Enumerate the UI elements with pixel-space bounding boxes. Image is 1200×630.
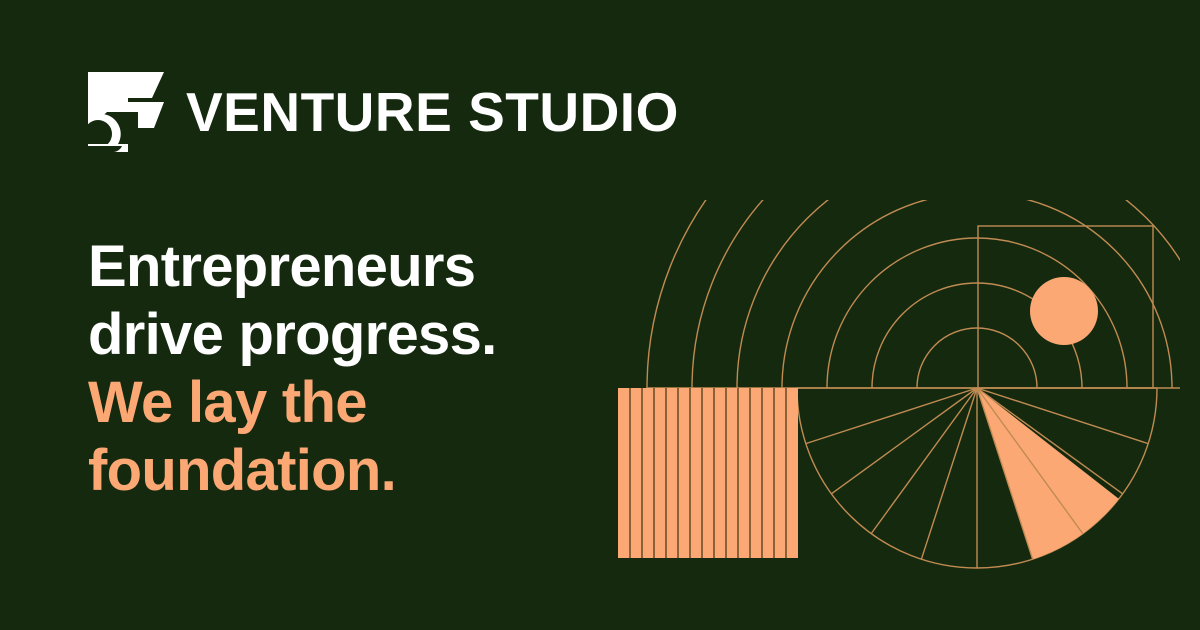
- arc-7: [647, 200, 1180, 388]
- artwork-svg: [600, 200, 1180, 580]
- brand-name: VENTURE STUDIO: [186, 85, 679, 140]
- headline-line-3: We lay the: [88, 369, 608, 437]
- striped-square: [618, 388, 798, 558]
- brand-lockup: VENTURE STUDIO: [88, 72, 679, 152]
- striped-square-fill: [618, 388, 798, 558]
- headline-line-4: foundation.: [88, 437, 608, 505]
- headline: Entrepreneurs drive progress. We lay the…: [88, 233, 608, 504]
- geometric-artwork: [600, 200, 1180, 580]
- arc-6: [692, 200, 1180, 388]
- fan-spoke-7: [921, 388, 977, 559]
- concentric-arcs: [647, 200, 1180, 388]
- radial-fan: [797, 388, 1157, 568]
- fan-filled-wedge: [977, 388, 1119, 559]
- fan-spoke-9: [831, 388, 977, 494]
- headline-line-2: drive progress.: [88, 301, 608, 369]
- arc-4: [782, 200, 1172, 388]
- fan-spoke-8: [871, 388, 977, 534]
- headline-line-1: Entrepreneurs: [88, 233, 608, 301]
- abstract-five-monogram-icon: [88, 72, 164, 152]
- accent-circle: [1030, 277, 1098, 345]
- poster-canvas: VENTURE STUDIO Entrepreneurs drive progr…: [0, 0, 1200, 630]
- arc-1: [917, 328, 1037, 388]
- fan-spoke-10: [806, 388, 977, 444]
- outlined-square-with-circle: [978, 226, 1153, 388]
- arc-5: [737, 200, 1180, 388]
